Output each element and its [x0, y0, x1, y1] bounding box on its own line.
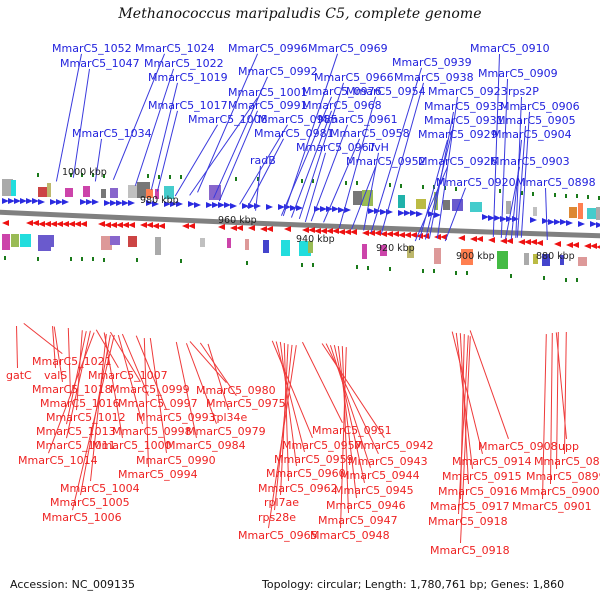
gene-label[interactable]: MmarC5_0997	[118, 398, 198, 409]
gene-label[interactable]: MmarC5_0916	[438, 486, 518, 497]
gene-label[interactable]: MmarC5_0923	[428, 86, 508, 97]
reverse-gene-arrow[interactable]	[488, 237, 495, 243]
reverse-gene-arrow[interactable]	[506, 238, 513, 244]
scale-tick-5: 900 kbp	[456, 251, 495, 262]
gene-label[interactable]: MmarC5_0960	[266, 468, 346, 479]
feature-box[interactable]	[83, 186, 90, 197]
gene-tick	[92, 257, 94, 261]
gene-tick	[422, 185, 424, 189]
gene-label[interactable]: MmarC5_1012	[46, 412, 126, 423]
reverse-gene-arrow[interactable]	[128, 222, 135, 228]
gene-tick	[301, 263, 303, 267]
gene-label[interactable]: MmarC5_0965	[238, 530, 318, 541]
gene-label[interactable]: MmarC5_0903	[490, 156, 570, 167]
feature-box[interactable]	[200, 238, 205, 247]
gene-label[interactable]: MmarC5_0985	[258, 114, 338, 125]
feature-box[interactable]	[587, 208, 596, 219]
gene-tick	[389, 267, 391, 271]
feature-box[interactable]	[227, 238, 231, 248]
gene-label[interactable]: MmarC5_0910	[470, 43, 550, 54]
gene-tick	[37, 173, 39, 177]
gene-label[interactable]: MmarC5_0951	[312, 425, 392, 436]
feature-box[interactable]	[245, 239, 249, 250]
gene-tick	[422, 269, 424, 273]
forward-gene-arrow[interactable]	[530, 217, 537, 223]
gene-tick	[576, 278, 578, 282]
gene-label[interactable]: MmarC5_0944	[340, 470, 420, 481]
gene-tick	[565, 194, 567, 198]
gene-tick	[466, 271, 468, 275]
feature-box[interactable]	[578, 257, 587, 266]
gene-label[interactable]: MmarC5_0993	[136, 412, 216, 423]
gene-label[interactable]: MmarC5_0931	[424, 115, 504, 126]
gene-tick	[587, 195, 589, 199]
forward-gene-arrow[interactable]	[266, 204, 273, 210]
forward-gene-arrow[interactable]	[578, 221, 585, 227]
gene-tick	[543, 276, 545, 280]
reverse-gene-arrow[interactable]	[188, 223, 195, 229]
gene-tick	[235, 177, 237, 181]
gene-label[interactable]: MmarC5_0946	[326, 500, 406, 511]
gene-tick	[565, 278, 567, 282]
gene-label[interactable]: MmarC5_1006	[42, 512, 122, 523]
gene-tick	[345, 181, 347, 185]
scale-tick-2: 960 kbp	[218, 215, 257, 226]
scale-tick-4: 920 kbp	[376, 243, 415, 254]
feature-box[interactable]	[533, 207, 537, 216]
forward-gene-arrow[interactable]	[566, 220, 573, 226]
gene-tick	[455, 271, 457, 275]
gene-label[interactable]: ilvH	[368, 142, 389, 153]
feature-box[interactable]	[524, 253, 529, 265]
gene-label[interactable]: MmarC5_0962	[258, 483, 338, 494]
gene-tick	[37, 257, 39, 261]
gene-label[interactable]: MmarC5_0943	[348, 456, 428, 467]
gene-label[interactable]: MmarC5_0998	[112, 426, 192, 437]
gene-tick	[103, 258, 105, 262]
gene-label[interactable]: MmarC5_0992	[238, 66, 318, 77]
gene-label[interactable]: MmarC5_0915	[442, 471, 522, 482]
forward-gene-arrow[interactable]	[62, 199, 69, 205]
gene-tick	[136, 258, 138, 262]
gene-tick	[356, 265, 358, 269]
gene-tick	[169, 175, 171, 179]
gene-label[interactable]: MmarC5_0947	[318, 515, 398, 526]
page-title: Methanococcus maripaludis C5, complete g…	[0, 6, 600, 22]
reverse-gene-arrow[interactable]	[458, 235, 465, 241]
gene-label[interactable]: MmarC5_0948	[310, 530, 390, 541]
feature-box[interactable]	[101, 189, 106, 198]
feature-box[interactable]	[155, 237, 161, 255]
gene-label[interactable]: MmarC5_0996	[228, 43, 308, 54]
gene-tick	[4, 256, 6, 260]
gene-label[interactable]: MmarC5_1013	[36, 426, 116, 437]
reverse-gene-arrow[interactable]	[572, 242, 579, 248]
gene-tick	[246, 261, 248, 265]
feature-box[interactable]	[281, 240, 290, 256]
gene-label[interactable]: MmarC5_0917	[430, 501, 510, 512]
gene-label[interactable]: MmarC5_1052	[52, 43, 132, 54]
forward-gene-arrow[interactable]	[38, 199, 45, 205]
gene-label[interactable]: MmarC5_1047	[60, 58, 140, 69]
gene-label[interactable]: MmarC5_0909	[478, 68, 558, 79]
gene-label[interactable]: MmarC5_0897	[534, 456, 600, 467]
feature-box[interactable]	[47, 183, 51, 197]
gene-label[interactable]: MmarC5_1007	[88, 370, 168, 381]
gene-tick	[400, 184, 402, 188]
gene-label[interactable]: MmarC5_1024	[135, 43, 215, 54]
reverse-gene-arrow[interactable]	[476, 236, 483, 242]
gene-label[interactable]: MmarC5_0933	[424, 101, 504, 112]
gene-label[interactable]: MmarC5_0990	[136, 455, 216, 466]
gene-label[interactable]: MmarC5_0968	[302, 100, 382, 111]
gene-label[interactable]: rpl34e	[212, 412, 247, 423]
feature-box[interactable]	[47, 235, 54, 247]
reverse-gene-arrow[interactable]	[596, 244, 600, 250]
feature-box[interactable]	[20, 234, 31, 247]
gene-label[interactable]: MmarC5_0899	[526, 471, 600, 482]
scale-tick-1: 980 kbp	[140, 195, 179, 206]
feature-box[interactable]	[263, 240, 269, 253]
reverse-gene-arrow[interactable]	[266, 226, 273, 232]
forward-gene-arrow[interactable]	[596, 222, 600, 228]
gene-label[interactable]: MmarC5_0898	[516, 177, 596, 188]
gene-label[interactable]: MmarC5_1022	[144, 58, 224, 69]
gene-leader-line	[272, 341, 313, 438]
gene-label[interactable]: MmarC5_1016	[40, 398, 120, 409]
gene-label[interactable]: MmarC5_1004	[60, 483, 140, 494]
gene-tick	[180, 175, 182, 179]
forward-gene-arrow[interactable]	[92, 199, 99, 205]
reverse-gene-arrow[interactable]	[158, 223, 165, 229]
gene-tick	[81, 257, 83, 261]
genome-graphical-view: Methanococcus maripaludis C5, complete g…	[0, 0, 600, 600]
gene-label[interactable]: MmarC5_0994	[118, 469, 198, 480]
gene-tick	[301, 179, 303, 183]
gene-label[interactable]: MmarC5_1014	[18, 455, 98, 466]
gene-label[interactable]: MmarC5_1017	[148, 100, 228, 111]
gene-label[interactable]: MmarC5_1019	[148, 72, 228, 83]
gene-label[interactable]: rps28e	[258, 512, 296, 523]
gene-label[interactable]: MmarC5_0999	[110, 384, 190, 395]
gene-label[interactable]: MmarC5_0918	[430, 545, 510, 556]
gene-label[interactable]: MmarC5_0942	[354, 440, 434, 451]
gene-label[interactable]: MmarC5_0920	[436, 177, 516, 188]
gene-label[interactable]: MmarC5_1034	[72, 128, 152, 139]
feature-box[interactable]	[569, 207, 577, 218]
gene-label[interactable]: MmarC5_0939	[392, 57, 472, 68]
gene-label[interactable]: MmarC5_0905	[496, 115, 576, 126]
forward-gene-arrow[interactable]	[416, 211, 423, 217]
reverse-gene-arrow[interactable]	[284, 226, 291, 232]
gene-label[interactable]: MmarC5_0967	[296, 142, 376, 153]
gene-tick	[70, 257, 72, 261]
gene-label[interactable]: MmarC5_1001	[228, 87, 308, 98]
feature-box[interactable]	[443, 200, 450, 210]
gene-label[interactable]: MmarC5_0991	[228, 100, 308, 111]
forward-gene-arrow[interactable]	[128, 200, 135, 206]
gene-label[interactable]: MmarC5_0945	[334, 485, 414, 496]
feature-box[interactable]	[110, 236, 120, 245]
reverse-gene-arrow[interactable]	[554, 241, 561, 247]
gene-tick	[180, 259, 182, 263]
gene-tick	[532, 192, 534, 196]
gene-label[interactable]: MmarC5_0966	[314, 72, 394, 83]
scale-tick-0: 1000 kbp	[62, 167, 107, 178]
gene-label[interactable]: MmarC5_1008	[188, 114, 268, 125]
gene-label[interactable]: upp	[558, 441, 579, 452]
feature-box[interactable]	[110, 188, 118, 198]
gene-tick	[554, 193, 556, 197]
gene-label[interactable]: MmarC5_0914	[452, 456, 532, 467]
accession-text: Accession: NC_009135	[10, 578, 135, 591]
feature-box[interactable]	[578, 203, 583, 219]
gene-label[interactable]: MmarC5_0952	[346, 156, 426, 167]
gene-label[interactable]: MmarC5_1021	[32, 356, 112, 367]
gene-label[interactable]: MmarC5_0908	[478, 441, 558, 452]
feature-box[interactable]	[434, 248, 441, 264]
feature-box[interactable]	[398, 195, 405, 208]
gene-label[interactable]: MmarC5_0957	[282, 440, 362, 451]
gene-label[interactable]: rpl7ae	[264, 497, 299, 508]
gene-tick	[367, 266, 369, 270]
gene-label[interactable]: MmarC5_0929	[418, 129, 498, 140]
gene-label[interactable]: MmarC5_0975	[206, 398, 286, 409]
gene-label[interactable]: gatC	[6, 370, 32, 381]
feature-box[interactable]	[596, 207, 600, 220]
gene-label[interactable]: MmarC5_0906	[500, 101, 580, 112]
gene-tick	[312, 263, 314, 267]
gene-label[interactable]: MmarC5_0984	[166, 440, 246, 451]
gene-label[interactable]: MmarC5_1005	[50, 497, 130, 508]
gene-label[interactable]: MmarC5_0954	[346, 86, 426, 97]
feature-box[interactable]	[362, 244, 367, 259]
feature-box[interactable]	[128, 236, 137, 247]
reverse-gene-arrow[interactable]	[2, 220, 9, 226]
scale-tick-6: 880 kbp	[536, 251, 575, 262]
gene-label[interactable]: radB	[250, 155, 276, 166]
reverse-gene-arrow[interactable]	[80, 221, 87, 227]
gene-label[interactable]: MmarC5_0980	[196, 385, 276, 396]
gene-tick	[576, 194, 578, 198]
gene-tick	[510, 274, 512, 278]
gene-tick	[389, 183, 391, 187]
forward-gene-arrow[interactable]	[194, 202, 201, 208]
feature-box[interactable]	[65, 188, 73, 197]
gene-label[interactable]: MmarC5_0900	[520, 486, 600, 497]
scale-tick-3: 940 kbp	[296, 234, 335, 245]
gene-label[interactable]: MmarC5_0938	[394, 72, 474, 83]
gene-tick	[499, 189, 501, 193]
feature-box[interactable]	[2, 234, 10, 250]
gene-tick	[147, 174, 149, 178]
feature-box[interactable]	[11, 180, 16, 196]
gene-label[interactable]: MmarC5_0979	[186, 426, 266, 437]
feature-box[interactable]	[497, 251, 508, 269]
feature-box[interactable]	[470, 202, 482, 212]
gene-tick	[433, 269, 435, 273]
reverse-gene-arrow[interactable]	[536, 240, 543, 246]
gene-label[interactable]: MmarC5_1018	[32, 384, 112, 395]
gene-label[interactable]: rps2P	[508, 86, 539, 97]
gene-label[interactable]: valS	[44, 370, 67, 381]
gene-label[interactable]: MmarC5_0904	[492, 129, 572, 140]
gene-tick	[356, 181, 358, 185]
gene-label[interactable]: MmarC5_0959	[274, 454, 354, 465]
genome-summary-text: Topology: circular; Length: 1,780,761 bp…	[262, 578, 564, 591]
forward-gene-arrow[interactable]	[230, 203, 237, 209]
gene-label[interactable]: MmarC5_0981	[254, 128, 334, 139]
gene-label[interactable]: MmarC5_0926	[418, 156, 498, 167]
feature-box[interactable]	[416, 199, 426, 209]
gene-label[interactable]: MmarC5_0918	[428, 516, 508, 527]
gene-label[interactable]: MmarC5_1000	[92, 440, 172, 451]
gene-label[interactable]: MmarC5_0901	[512, 501, 592, 512]
gene-label[interactable]: MmarC5_0958	[330, 128, 410, 139]
gene-label[interactable]: MmarC5_0969	[308, 43, 388, 54]
feature-box[interactable]	[11, 234, 19, 247]
